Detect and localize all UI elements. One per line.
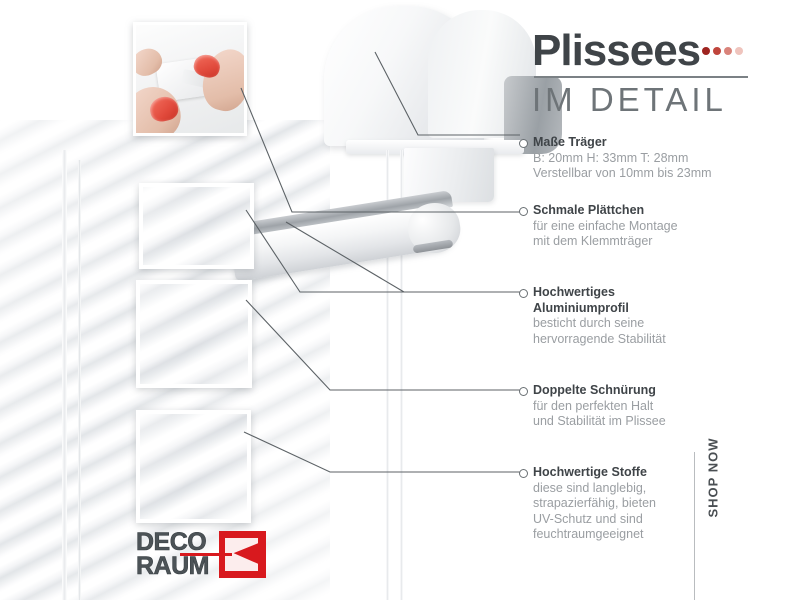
headline-block: Plissees IM DETAIL — [532, 28, 782, 119]
callout-line: B: 20mm H: 33mm T: 28mm — [533, 151, 783, 167]
shop-now-button[interactable]: SHOP NOW — [706, 428, 721, 528]
callout-title: Doppelte Schnürung — [533, 383, 783, 399]
callout-marker-icon — [519, 469, 528, 478]
callout-line: für den perfekten Halt — [533, 399, 783, 415]
headline-rule — [534, 76, 748, 78]
callout-line: für eine einfache Montage — [533, 219, 783, 235]
line-schmale-plaettchen — [241, 88, 520, 212]
callout-marker-icon — [519, 387, 528, 396]
callout-marker-icon — [519, 207, 528, 216]
callout-schmale-plaettchen: Schmale Plättchen für eine einfache Mont… — [533, 203, 783, 250]
callout-title: Aluminiumprofil — [533, 301, 783, 317]
callout-marker-icon — [519, 139, 528, 148]
decoraum-logo[interactable]: DECO RAUM — [136, 530, 266, 580]
title-dot-3 — [724, 47, 732, 55]
callout-aluminiumprofil: Hochwertiges Aluminiumprofil besticht du… — [533, 285, 783, 347]
callout-title: Maße Träger — [533, 135, 783, 151]
title-dot-2 — [713, 47, 721, 55]
callout-line: UV-Schutz und sind — [533, 512, 783, 528]
callout-line: mit dem Klemmträger — [533, 234, 783, 250]
callout-masse-traeger: Maße Träger B: 20mm H: 33mm T: 28mm Vers… — [533, 135, 783, 182]
callout-marker-icon — [519, 289, 528, 298]
callout-line: besticht durch seine — [533, 316, 783, 332]
title-dot-1 — [702, 47, 710, 55]
callout-title: Hochwertiges — [533, 285, 783, 301]
callout-title: Schmale Plättchen — [533, 203, 783, 219]
callout-line: hervorragende Stabilität — [533, 332, 783, 348]
infographic-canvas: Plissees IM DETAIL Maße Träger B: 20mm H… — [0, 0, 800, 600]
callout-line: diese sind langlebig, — [533, 481, 783, 497]
title-dots — [702, 42, 746, 60]
line-doppelte-schnuerung — [246, 300, 520, 390]
line-profile-leader — [286, 222, 404, 292]
callout-line: und Stabilität im Plissee — [533, 414, 783, 430]
line-masse-traeger — [375, 52, 520, 135]
callout-doppelte-schnuerung: Doppelte Schnürung für den perfekten Hal… — [533, 383, 783, 430]
callout-line: strapazierfähig, bieten — [533, 496, 783, 512]
callout-title: Hochwertige Stoffe — [533, 465, 783, 481]
logo-text-raum: RAUM — [136, 554, 209, 578]
callout-line: feuchtraumgeeignet — [533, 527, 783, 543]
logo-text-deco: DECO — [136, 530, 206, 554]
title-dot-4 — [735, 47, 743, 55]
page-subtitle: IM DETAIL — [532, 81, 782, 119]
callout-hochwertige-stoffe: Hochwertige Stoffe diese sind langlebig,… — [533, 465, 783, 543]
shop-now-divider — [694, 452, 695, 600]
line-hochwertige-stoffe — [244, 432, 520, 472]
page-title: Plissees — [532, 28, 700, 74]
callout-line: Verstellbar von 10mm bis 23mm — [533, 166, 783, 182]
